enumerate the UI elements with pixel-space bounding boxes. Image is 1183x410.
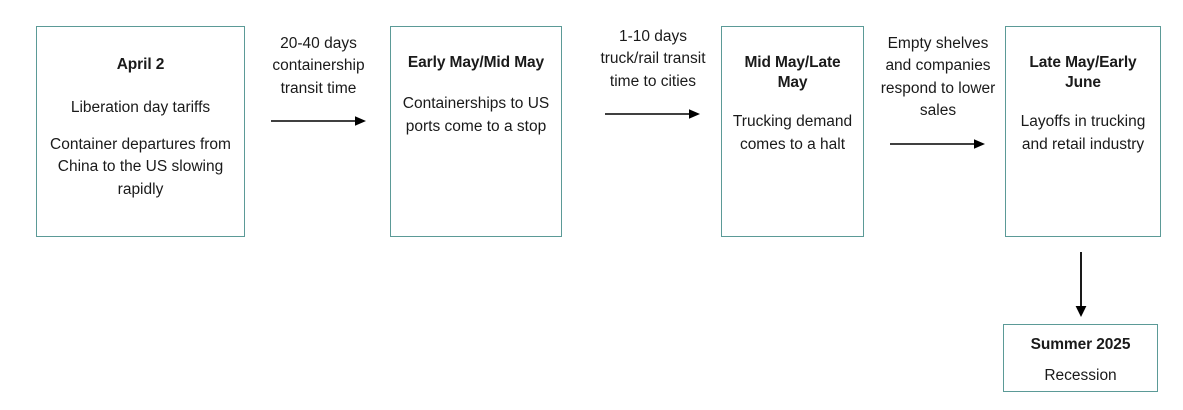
connector-latemay-to-summer (1063, 252, 1099, 318)
flow-node-title: Summer 2025 (1031, 335, 1131, 355)
connector-label: Empty shelves and companies respond to l… (876, 33, 1000, 123)
flow-node-title: April 2 (117, 55, 165, 75)
flow-node-late-may-early-june[interactable]: Late May/Early June Layoffs in trucking … (1005, 26, 1161, 237)
flow-node-body-line: Trucking demand comes to a halt (728, 111, 857, 156)
flowchart-canvas: April 2 Liberation day tariffs Container… (0, 0, 1183, 410)
flow-node-title: Early May/Mid May (408, 53, 544, 73)
flow-node-body-line: Containerships to US ports come to a sto… (399, 93, 553, 138)
flow-node-body-line: Container departures from China to the U… (47, 134, 234, 201)
arrow-down-icon (1063, 252, 1099, 318)
flow-node-summer-2025[interactable]: Summer 2025 Recession (1003, 324, 1158, 392)
flow-node-title: Late May/Early June (1012, 53, 1154, 93)
connector-label: 20-40 days containership transit time (252, 33, 385, 100)
connector-april2-to-earlymay: 20-40 days containership transit time (252, 33, 385, 128)
flow-node-body-line: Recession (1044, 365, 1116, 387)
flow-node-title: Mid May/Late May (728, 53, 857, 93)
arrow-right-icon (605, 107, 701, 121)
connector-midmay-to-latemay: Empty shelves and companies respond to l… (876, 33, 1000, 151)
flow-node-mid-may-late-may[interactable]: Mid May/Late May Trucking demand comes t… (721, 26, 864, 237)
connector-label: 1-10 days truck/rail transit time to cit… (592, 26, 714, 93)
flow-node-early-may-mid-may[interactable]: Early May/Mid May Containerships to US p… (390, 26, 562, 237)
flow-node-body-line: Layoffs in trucking and retail industry (1012, 111, 1154, 156)
connector-earlymay-to-midmay: 1-10 days truck/rail transit time to cit… (592, 26, 714, 121)
arrow-right-icon (890, 137, 986, 151)
flow-node-april-2[interactable]: April 2 Liberation day tariffs Container… (36, 26, 245, 237)
flow-node-body-line: Liberation day tariffs (71, 97, 210, 119)
arrow-right-icon (271, 114, 367, 128)
